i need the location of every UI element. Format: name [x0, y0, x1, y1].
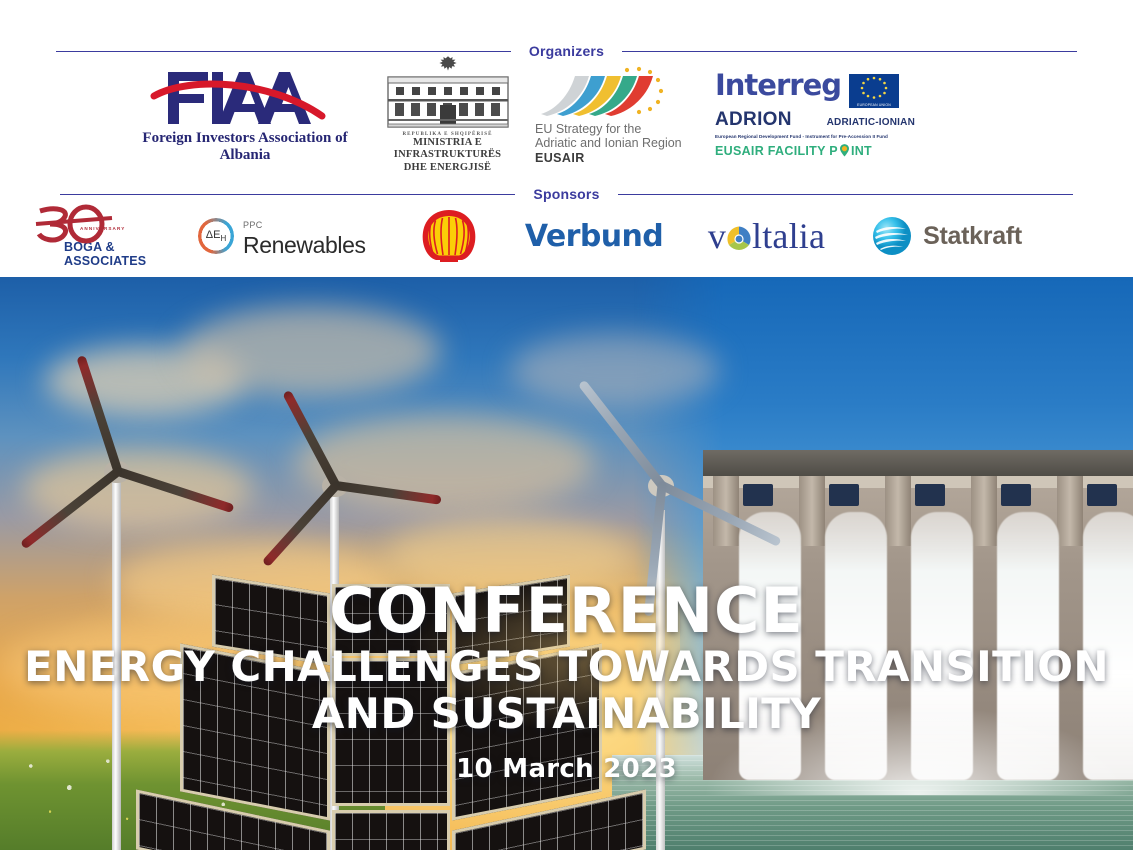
dam-roadway [703, 450, 1133, 476]
shell-pecten-icon [418, 208, 480, 264]
organizers-header: Organizers [0, 43, 1133, 59]
logo-ministry[interactable]: REPUBLIKA E SHQIPËRISË MINISTRIA E INFRA… [360, 55, 535, 174]
eusair-line-3: EUSAIR [535, 151, 715, 166]
ministry-building-icon [386, 75, 510, 129]
interreg-wordmark: Interreg [715, 72, 841, 99]
interreg-region: ADRIATIC-IONIAN [827, 117, 915, 128]
boga-anniversary-label: ANNIVERSARY [80, 226, 125, 231]
divider-left [56, 51, 511, 52]
statkraft-globe-icon [871, 215, 913, 257]
ppc-large-label: Renewables [243, 232, 366, 258]
hero-subtitle-line-2: AND SUSTAINABILITY [0, 692, 1133, 737]
ministry-line-1: MINISTRIA E INFRASTRUKTURËS [360, 137, 535, 162]
facility-point-pin-icon [839, 144, 850, 157]
sponsors-header: Sponsors [0, 186, 1133, 202]
credits-area: Organizers Fore [0, 0, 1133, 277]
voltalia-wordmark-pre: v [708, 216, 726, 256]
organizers-logo-row: Foreign Investors Association of Albania [0, 62, 1133, 167]
interreg-fund-line: European Regional Development Fund - Ins… [715, 134, 915, 139]
boga-wordmark: BOGA & ASSOCIATES [64, 240, 199, 268]
hero-image: CONFERENCE ENERGY CHALLENGES TOWARDS TRA… [0, 277, 1133, 850]
logo-fiaa[interactable]: Foreign Investors Association of Albania [130, 66, 360, 164]
interreg-top-row: Interreg EUROPEAN UNION [715, 72, 915, 108]
organizers-label: Organizers [529, 43, 604, 59]
divider-left [60, 194, 515, 195]
logo-shell[interactable] [389, 208, 509, 264]
sponsors-label: Sponsors [533, 186, 599, 202]
fiaa-icon [150, 66, 340, 128]
solar-panel [332, 810, 450, 850]
fiaa-caption: Foreign Investors Association of Albania [130, 130, 360, 164]
eu-flag-icon: EUROPEAN UNION [849, 74, 899, 108]
logo-statkraft[interactable]: Statkraft [854, 215, 1039, 257]
interreg-programme: ADRION [715, 109, 792, 131]
logo-boga-associates[interactable]: ANNIVERSARY BOGA & ASSOCIATES [34, 204, 199, 268]
divider-right [618, 194, 1073, 195]
hero-date: 10 March 2023 [0, 754, 1133, 784]
logo-interreg-adrion[interactable]: Interreg EUROPEAN UNION [715, 72, 915, 158]
conference-banner: Organizers Fore [0, 0, 1133, 850]
ppc-monogram-text: ΔEH [206, 229, 226, 243]
hero-title-block: CONFERENCE ENERGY CHALLENGES TOWARDS TRA… [0, 579, 1133, 784]
logo-verbund[interactable]: Verbund [509, 219, 679, 254]
boga-30-icon [34, 204, 126, 244]
boga-mark: ANNIVERSARY [34, 204, 199, 240]
statkraft-wordmark: Statkraft [923, 222, 1022, 251]
eu-stars-icon [849, 74, 899, 100]
eu-flag-label: EUROPEAN UNION [849, 103, 899, 107]
ministry-line-2: DHE ENERGJISË [360, 162, 535, 174]
facility-point-post: INT [851, 144, 872, 158]
ppc-monogram-icon: ΔEH [199, 219, 233, 253]
hero-subtitle-line-1: ENERGY CHALLENGES TOWARDS TRANSITION [0, 645, 1133, 690]
logo-voltalia[interactable]: v ltalia [679, 215, 854, 257]
facility-point-pre: EUSAIR FACILITY P [715, 144, 838, 158]
voltalia-wordmark-post: ltalia [752, 216, 825, 256]
sponsors-logo-row: ANNIVERSARY BOGA & ASSOCIATES ΔEH PPC Re… [0, 205, 1133, 267]
voltalia-dot-icon [726, 219, 752, 245]
verbund-wordmark: Verbund [525, 219, 663, 254]
eusair-mark [535, 64, 715, 122]
logo-ppc-renewables[interactable]: ΔEH PPC Renewables [199, 215, 389, 258]
ppc-small-label: PPC [243, 220, 263, 230]
eusair-line-1: EU Strategy for the [535, 122, 715, 137]
divider-right [622, 51, 1077, 52]
logo-eusair[interactable]: EU Strategy for the Adriatic and Ionian … [535, 64, 715, 166]
ppc-wordmark: PPC Renewables [243, 215, 389, 258]
eusair-line-2: Adriatic and Ionian Region [535, 136, 715, 151]
eusair-facility-point: EUSAIR FACILITY P INT [715, 144, 915, 158]
fiaa-mark [130, 66, 360, 128]
page-title: CONFERENCE [0, 579, 1133, 643]
eusair-arrows-icon [535, 64, 685, 122]
albania-eagle-icon [438, 55, 458, 72]
interreg-second-row: ADRION ADRIATIC-IONIAN [715, 109, 915, 131]
